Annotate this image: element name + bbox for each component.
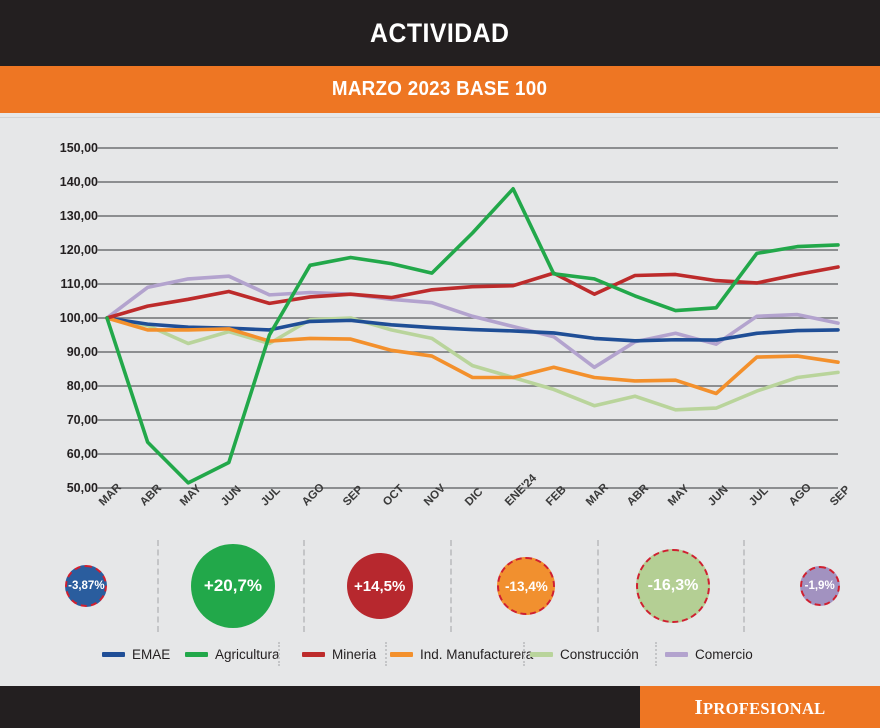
legend-swatch-icon	[302, 652, 325, 657]
legend-label: Agricultura	[215, 647, 280, 662]
badge-bubble: +14,5%	[347, 553, 413, 619]
footer-bar: IPROFESIONAL	[0, 686, 880, 728]
footer-left-block	[0, 686, 640, 728]
brand-logo: IPROFESIONAL	[695, 695, 826, 720]
badge-cell: -3,87%	[22, 536, 151, 636]
subtitle-bar: MARZO 2023 BASE 100	[0, 66, 880, 113]
badge-bubble: +20,7%	[191, 544, 275, 628]
brand-lead: I	[695, 695, 703, 719]
page-title: ACTIVIDAD	[370, 18, 509, 49]
line-chart: 150,00140,00130,00120,00110,00100,0090,0…	[0, 118, 880, 536]
chart-plot-area	[0, 118, 880, 536]
badge-divider	[157, 540, 159, 632]
legend-divider	[523, 642, 525, 666]
legend-item-agricultura[interactable]: Agricultura	[185, 636, 280, 672]
badge-bubble: -16,3%	[636, 549, 710, 623]
legend-swatch-icon	[665, 652, 688, 657]
badge-cell: -13,4%	[462, 536, 591, 636]
legend-swatch-icon	[185, 652, 208, 657]
title-bar: ACTIVIDAD	[0, 0, 880, 66]
legend-divider	[385, 642, 387, 666]
legend-label: Ind. Manufacturera	[420, 647, 533, 662]
badge-bubble: -13,4%	[497, 557, 555, 615]
legend-label: Comercio	[695, 647, 753, 662]
badge-divider	[743, 540, 745, 632]
page-subtitle: MARZO 2023 BASE 100	[332, 78, 547, 101]
legend-item-construcci-n[interactable]: Construcción	[530, 636, 639, 672]
footer-brand-block: IPROFESIONAL	[640, 686, 880, 728]
infographic-page: ACTIVIDAD MARZO 2023 BASE 100 150,00140,…	[0, 0, 880, 728]
legend-label: EMAE	[132, 647, 170, 662]
badge-cell: +20,7%	[169, 536, 298, 636]
badge-divider	[303, 540, 305, 632]
legend-item-mineria[interactable]: Mineria	[302, 636, 376, 672]
summary-badges: -3,87%+20,7%+14,5%-13,4%-16,3%-1,9%	[0, 536, 880, 636]
badge-cell: +14,5%	[315, 536, 444, 636]
legend-label: Construcción	[560, 647, 639, 662]
badge-divider	[450, 540, 452, 632]
legend-item-comercio[interactable]: Comercio	[665, 636, 753, 672]
series-line-construcci-n	[107, 318, 838, 410]
legend-item-emae[interactable]: EMAE	[102, 636, 170, 672]
badge-bubble: -3,87%	[65, 565, 107, 607]
badge-cell: -1,9%	[755, 536, 880, 636]
legend-divider	[655, 642, 657, 666]
badge-bubble: -1,9%	[800, 566, 840, 606]
legend-swatch-icon	[530, 652, 553, 657]
brand-rest: PROFESIONAL	[703, 699, 825, 718]
legend-divider	[278, 642, 280, 666]
legend-swatch-icon	[390, 652, 413, 657]
legend-swatch-icon	[102, 652, 125, 657]
chart-legend: EMAEAgriculturaMineriaInd. Manufacturera…	[0, 636, 880, 672]
legend-label: Mineria	[332, 647, 376, 662]
legend-item-ind-manufacturera[interactable]: Ind. Manufacturera	[390, 636, 533, 672]
badge-divider	[597, 540, 599, 632]
badge-cell: -16,3%	[609, 536, 738, 636]
